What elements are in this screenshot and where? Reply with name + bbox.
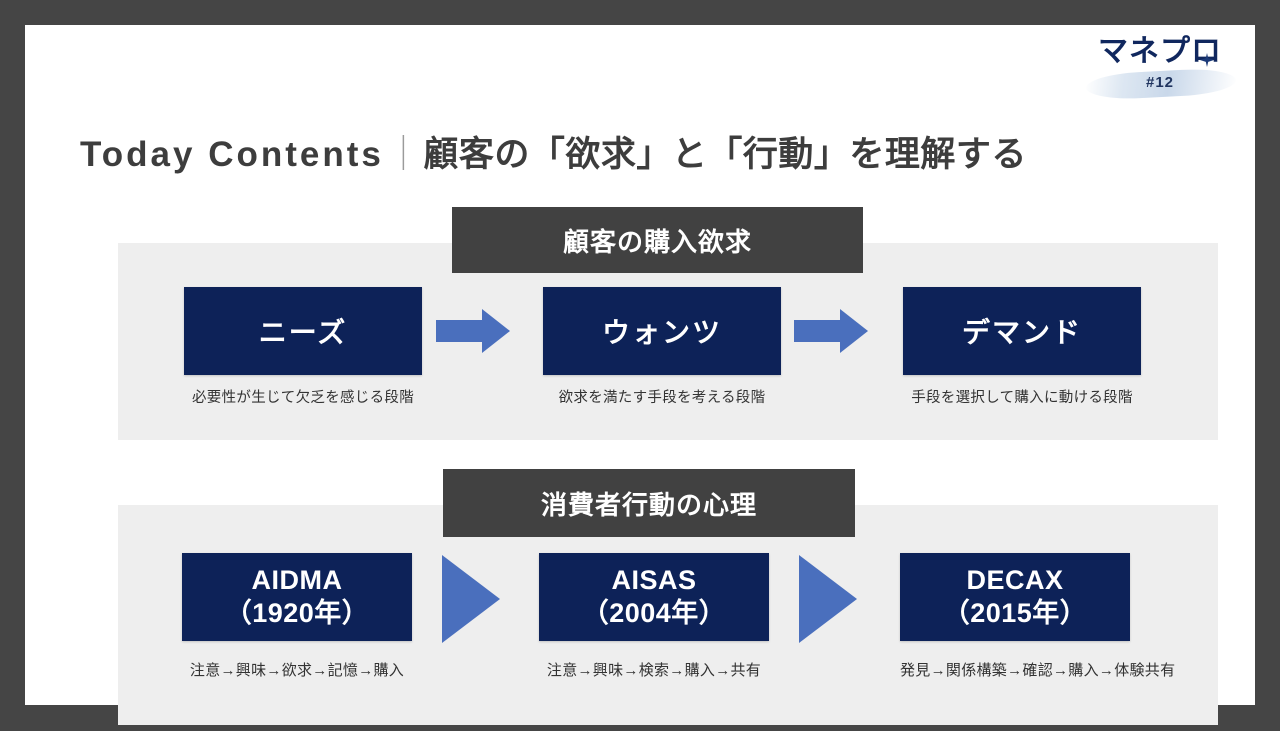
model-aidma[interactable]: AIDMA （1920年） 注意→興味→欲求→記憶→購入: [182, 553, 412, 680]
model-label-box: AIDMA （1920年）: [182, 553, 412, 641]
stage-wants[interactable]: ウォンツ 欲求を満たす手段を考える段階: [543, 287, 781, 407]
section-heading-needs: 顧客の購入欲求: [452, 207, 863, 273]
model-year: （1920年）: [225, 597, 370, 630]
slide-number-badge: #12: [1090, 74, 1230, 91]
stage-needs[interactable]: ニーズ 必要性が生じて欠乏を感じる段階: [184, 287, 422, 407]
page-title-ja: 顧客の「欲求」と「行動」を理解する: [423, 135, 1027, 174]
arrow-shaft: [436, 320, 484, 342]
model-caption: 注意→興味→欲求→記憶→購入: [182, 659, 412, 680]
arrow-head: [840, 309, 868, 353]
arrow-aisas-to-decax: [799, 555, 857, 643]
page-title-separator: ｜: [384, 135, 424, 174]
stage-caption: 手段を選択して購入に動ける段階: [903, 386, 1141, 407]
arrow-head: [482, 309, 510, 353]
model-year: （2015年）: [943, 597, 1088, 630]
stage-label-box: デマンド: [903, 287, 1141, 375]
stage-label-box: ウォンツ: [543, 287, 781, 375]
arrow-shaft: [794, 320, 842, 342]
stage-demand[interactable]: デマンド 手段を選択して購入に動ける段階: [903, 287, 1141, 407]
page-title: Today Contents｜顧客の「欲求」と「行動」を理解する: [80, 126, 1027, 177]
model-caption: 発見→関係構築→確認→購入→体験共有: [900, 659, 1175, 680]
stage-caption: 必要性が生じて欠乏を感じる段階: [184, 386, 422, 407]
arrow-needs-to-wants: [436, 309, 512, 353]
model-year: （2004年）: [582, 597, 727, 630]
model-decax[interactable]: DECAX （2015年） 発見→関係構築→確認→購入→体験共有: [900, 553, 1175, 680]
arrow-aidma-to-aisas: [442, 555, 500, 643]
model-label-box: DECAX （2015年）: [900, 553, 1130, 641]
stage-row-needs: ニーズ 必要性が生じて欠乏を感じる段階 ウォンツ 欲求を満たす手段を考える段階 …: [118, 287, 1218, 417]
stage-caption: 欲求を満たす手段を考える段階: [543, 386, 781, 407]
brand-logo: マネプロ #12: [1090, 35, 1230, 130]
section-heading-behavior: 消費者行動の心理: [443, 469, 855, 537]
model-name: DECAX: [943, 564, 1088, 597]
sparkle-icon: [1200, 53, 1214, 67]
left-accent-bar: [0, 0, 25, 731]
model-name: AISAS: [582, 564, 727, 597]
model-aisas[interactable]: AISAS （2004年） 注意→興味→検索→購入→共有: [539, 553, 769, 680]
stage-row-behavior: AIDMA （1920年） 注意→興味→欲求→記憶→購入 AISAS （2004…: [118, 553, 1218, 698]
arrow-wants-to-demand: [794, 309, 870, 353]
model-label-box: AISAS （2004年）: [539, 553, 769, 641]
slide-canvas: マネプロ #12 Today Contents｜顧客の「欲求」と「行動」を理解す…: [25, 25, 1255, 705]
model-caption: 注意→興味→検索→購入→共有: [539, 659, 769, 680]
page-title-en: Today Contents: [80, 135, 384, 174]
model-name: AIDMA: [225, 564, 370, 597]
stage-label-box: ニーズ: [184, 287, 422, 375]
